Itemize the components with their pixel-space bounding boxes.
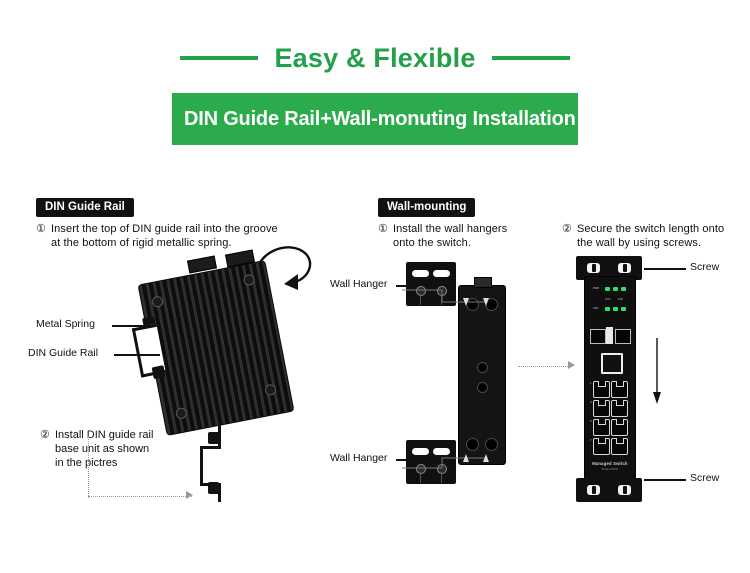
sfp-port-2 bbox=[615, 329, 631, 344]
console-port bbox=[601, 353, 623, 374]
callout-din-guide-rail-label: DIN Guide Rail bbox=[28, 347, 98, 359]
callout-screw-top-label: Screw bbox=[690, 261, 719, 273]
step-din-1-number: ① bbox=[36, 222, 49, 236]
rj45-port-4 bbox=[611, 400, 628, 417]
clip-hook-bottom bbox=[152, 365, 166, 379]
led-indicator-2 bbox=[613, 287, 618, 291]
screw-bottom-right bbox=[618, 485, 631, 495]
din-base-dashed-vertical bbox=[88, 436, 89, 498]
step-din-1-line-1: Insert the top of DIN guide rail into th… bbox=[51, 222, 316, 236]
port-number-3: 3 bbox=[590, 400, 592, 404]
din-base-dashed-arrowhead bbox=[186, 491, 193, 499]
led-indicator-6 bbox=[621, 307, 626, 311]
infographic-page: Easy & Flexible DIN Guide Rail+Wall-monu… bbox=[0, 0, 750, 573]
assembly-guide-lines bbox=[400, 262, 520, 492]
step-wall-2-number: ② bbox=[562, 222, 575, 236]
led-label-pwr: PWR bbox=[593, 287, 599, 290]
device-brand-label: Managed Switch 8GE+2SFP bbox=[585, 461, 635, 471]
step-din-2-line-2: base unit as shown bbox=[55, 442, 215, 456]
step-wall-2-body: Secure the switch length onto the wall b… bbox=[562, 222, 747, 250]
transition-dotted-line bbox=[518, 366, 570, 367]
step-wall-2-line-2: the wall by using screws. bbox=[577, 236, 747, 250]
section-badge-din-guide-rail: DIN Guide Rail bbox=[36, 198, 134, 217]
section-badge-wall-mounting: Wall-mounting bbox=[378, 198, 475, 217]
title-rule-left bbox=[180, 56, 258, 60]
rj45-port-8 bbox=[611, 438, 628, 455]
callout-wall-hanger-bottom-label: Wall Hanger bbox=[330, 452, 387, 464]
subtitle-banner-text: DIN Guide Rail+Wall-monuting Installatio… bbox=[172, 108, 576, 131]
screw-bottom-left bbox=[587, 485, 600, 495]
step-wall-1-line-1: Install the wall hangers bbox=[393, 222, 538, 236]
step-din-2: ② Install DIN guide rail base unit as sh… bbox=[40, 428, 215, 470]
rj45-port-5 bbox=[593, 419, 610, 436]
sfp-port-1 bbox=[590, 329, 606, 344]
led-label-lnk: LNK bbox=[618, 298, 623, 301]
callout-metal-spring-label: Metal Spring bbox=[36, 318, 95, 330]
screw-top-right bbox=[618, 263, 631, 273]
base-hook-bottom bbox=[208, 482, 219, 494]
sfp-divider bbox=[606, 327, 613, 344]
rj45-port-6 bbox=[611, 419, 628, 436]
led-indicator-1 bbox=[605, 287, 610, 291]
step-wall-1-body: Install the wall hangers onto the switch… bbox=[378, 222, 538, 250]
rj45-port-7 bbox=[593, 438, 610, 455]
step-wall-2: ② Secure the switch length onto the wall… bbox=[562, 222, 747, 250]
led-indicator-5 bbox=[613, 307, 618, 311]
port-number-7: 7 bbox=[590, 438, 592, 442]
callout-screw-bottom-label: Screw bbox=[690, 472, 719, 484]
rj45-port-grid: 1 3 5 7 bbox=[590, 379, 630, 457]
rj45-port-1 bbox=[593, 381, 610, 398]
mount-bracket-bottom bbox=[576, 478, 642, 502]
callout-screw-bottom-leader bbox=[644, 479, 686, 481]
step-din-2-line-1: Install DIN guide rail bbox=[55, 428, 215, 442]
switch-length-arrow-icon bbox=[652, 338, 662, 406]
led-label-spd: SPD bbox=[593, 307, 598, 310]
din-rail-base-unit bbox=[196, 424, 230, 502]
step-din-2-number: ② bbox=[40, 428, 53, 442]
step-wall-1: ① Install the wall hangers onto the swit… bbox=[378, 222, 538, 250]
base-bracket bbox=[200, 446, 221, 486]
port-number-5: 5 bbox=[590, 419, 592, 423]
page-title-row: Easy & Flexible bbox=[0, 38, 750, 78]
step-din-2-body: Install DIN guide rail base unit as show… bbox=[40, 428, 215, 470]
led-panel: PWR SYS LNK SPD bbox=[591, 285, 631, 319]
led-indicator-3 bbox=[621, 287, 626, 291]
transition-arrowhead bbox=[568, 361, 575, 369]
subtitle-banner: DIN Guide Rail+Wall-monuting Installatio… bbox=[172, 93, 578, 145]
rj45-port-2 bbox=[611, 381, 628, 398]
step-wall-1-line-2: onto the switch. bbox=[393, 236, 538, 250]
step-wall-1-number: ① bbox=[378, 222, 391, 236]
base-hook-top bbox=[208, 432, 219, 444]
led-label-sys: SYS bbox=[605, 298, 610, 301]
device-model-text: 8GE+2SFP bbox=[585, 467, 635, 471]
step-din-2-line-3: in the pictres bbox=[55, 456, 215, 470]
page-title: Easy & Flexible bbox=[274, 43, 475, 74]
rj45-port-3 bbox=[593, 400, 610, 417]
device-brand-text: Managed Switch bbox=[592, 461, 628, 466]
mounted-switch: PWR SYS LNK SPD 1 bbox=[576, 256, 642, 502]
switch-front-panel: PWR SYS LNK SPD 1 bbox=[584, 276, 636, 486]
step-wall-2-line-1: Secure the switch length onto bbox=[577, 222, 747, 236]
screw-top-left bbox=[587, 263, 600, 273]
callout-din-guide-rail-leader bbox=[114, 354, 160, 356]
callout-wall-hanger-top-label: Wall Hanger bbox=[330, 278, 387, 290]
port-number-1: 1 bbox=[590, 381, 592, 385]
led-indicator-4 bbox=[605, 307, 610, 311]
din-base-dashed-horizontal bbox=[88, 496, 192, 497]
callout-metal-spring-leader bbox=[112, 325, 156, 327]
callout-screw-top-leader bbox=[644, 268, 686, 270]
title-rule-right bbox=[492, 56, 570, 60]
